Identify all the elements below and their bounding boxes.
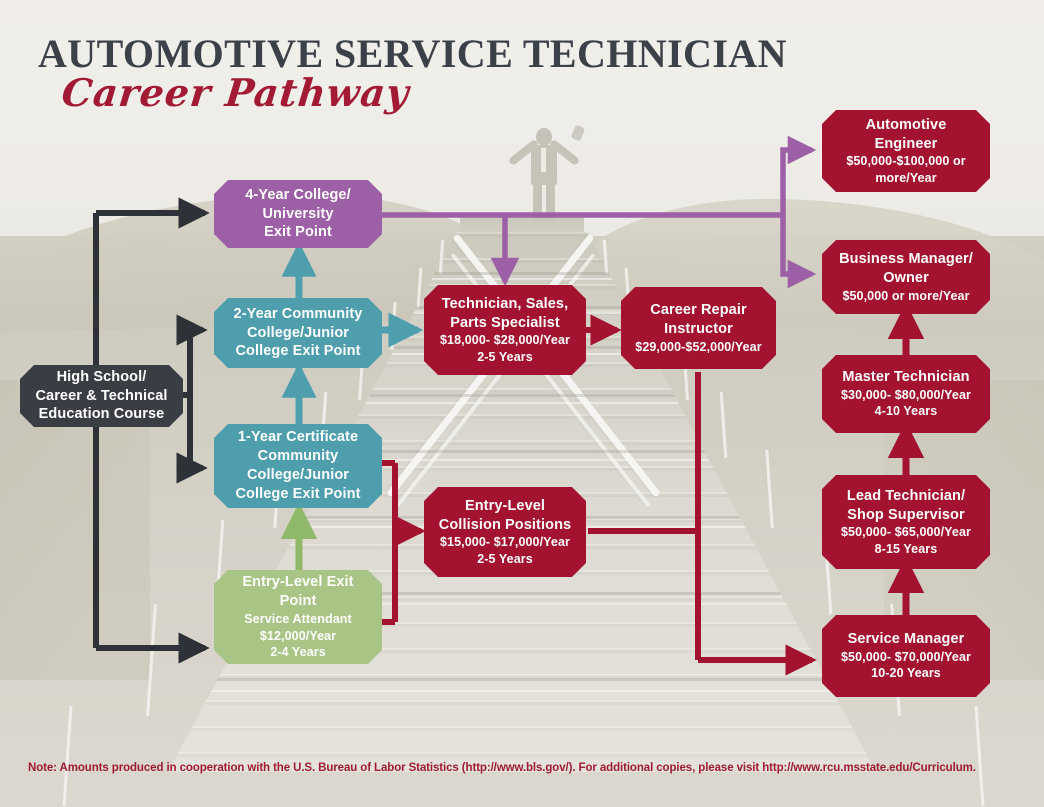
- node-entry-exit-line1: Entry-Level Exit: [242, 573, 353, 592]
- node-one-year-line2: Community: [258, 447, 339, 466]
- node-two-year-college[interactable]: 2-Year Community College/Junior College …: [214, 298, 382, 368]
- node-collision-line1: Entry-Level: [465, 497, 545, 516]
- node-entry-exit-salary: $12,000/Year: [260, 628, 336, 645]
- node-entry-level-collision[interactable]: Entry-Level Collision Positions $15,000-…: [424, 487, 586, 577]
- wire-high-school-to-colleges: [183, 330, 203, 468]
- node-high-school-line1: High School/: [57, 368, 147, 387]
- node-career-repair-instructor[interactable]: Career Repair Instructor $29,000-$52,000…: [621, 287, 776, 369]
- node-one-year-line1: 1-Year Certificate: [238, 428, 358, 447]
- node-technician-salary: $18,000- $28,000/Year: [440, 332, 570, 349]
- node-instructor-line2: Instructor: [664, 320, 733, 339]
- career-pathway-poster: AUTOMOTIVE SERVICE TECHNICIAN Career Pat…: [0, 0, 1044, 807]
- node-master-technician[interactable]: Master Technician $30,000- $80,000/Year …: [822, 355, 990, 433]
- node-instructor-line1: Career Repair: [650, 301, 746, 320]
- node-business-manager-line2: Owner: [883, 269, 929, 288]
- node-four-year-line1: 4-Year College/: [245, 186, 350, 205]
- node-engineer-salary-line2: more/Year: [875, 170, 936, 187]
- node-four-year-line2: University: [262, 205, 333, 224]
- node-one-year-certificate[interactable]: 1-Year Certificate Community College/Jun…: [214, 424, 382, 508]
- node-business-manager-line1: Business Manager/: [839, 250, 973, 269]
- node-one-year-line4: College Exit Point: [235, 485, 360, 504]
- node-service-manager-salary: $50,000- $70,000/Year: [841, 649, 971, 666]
- node-lead-technician-line2: Shop Supervisor: [847, 506, 965, 525]
- node-technician-line1: Technician, Sales,: [442, 295, 568, 314]
- node-high-school-line3: Education Course: [39, 405, 165, 424]
- node-high-school[interactable]: High School/ Career & Technical Educatio…: [20, 365, 183, 427]
- node-two-year-line2: College/Junior: [247, 324, 349, 343]
- node-service-manager[interactable]: Service Manager $50,000- $70,000/Year 10…: [822, 615, 990, 697]
- node-technician-line2: Parts Specialist: [450, 314, 560, 333]
- node-collision-line2: Collision Positions: [439, 516, 571, 535]
- node-two-year-line3: College Exit Point: [235, 342, 360, 361]
- node-entry-exit-role: Service Attendant: [244, 611, 352, 628]
- node-service-manager-title: Service Manager: [848, 630, 965, 649]
- node-master-technician-title: Master Technician: [842, 368, 969, 387]
- node-engineer-line1: Automotive: [866, 116, 947, 135]
- wire-four-year-bus: [380, 150, 812, 282]
- wire-instructor-to-service-manager: [588, 372, 812, 660]
- node-collision-years: 2-5 Years: [477, 551, 533, 568]
- node-business-manager-salary: $50,000 or more/Year: [842, 288, 969, 305]
- node-collision-salary: $15,000- $17,000/Year: [440, 534, 570, 551]
- node-one-year-line3: College/Junior: [247, 466, 349, 485]
- node-technician-sales-parts[interactable]: Technician, Sales, Parts Specialist $18,…: [424, 285, 586, 375]
- node-lead-technician-shop-supervisor[interactable]: Lead Technician/ Shop Supervisor $50,000…: [822, 475, 990, 569]
- node-engineer-salary-line1: $50,000-$100,000 or: [846, 153, 965, 170]
- node-high-school-line2: Career & Technical: [35, 387, 167, 406]
- footer-note: Note: Amounts produced in cooperation wi…: [28, 762, 976, 774]
- node-lead-technician-line1: Lead Technician/: [847, 487, 965, 506]
- node-service-manager-years: 10-20 Years: [871, 665, 941, 682]
- node-two-year-line1: 2-Year Community: [234, 305, 363, 324]
- node-four-year-line3: Exit Point: [264, 223, 332, 242]
- node-engineer-line2: Engineer: [875, 135, 938, 154]
- node-entry-exit-years: 2-4 Years: [270, 644, 326, 661]
- node-master-technician-years: 4-10 Years: [875, 403, 938, 420]
- node-four-year-college[interactable]: 4-Year College/ University Exit Point: [214, 180, 382, 248]
- node-master-technician-salary: $30,000- $80,000/Year: [841, 387, 971, 404]
- node-entry-exit-line2: Point: [280, 592, 317, 611]
- node-lead-technician-years: 8-15 Years: [875, 541, 938, 558]
- node-technician-years: 2-5 Years: [477, 349, 533, 366]
- node-instructor-salary: $29,000-$52,000/Year: [635, 339, 761, 356]
- node-automotive-engineer[interactable]: Automotive Engineer $50,000-$100,000 or …: [822, 110, 990, 192]
- node-business-manager-owner[interactable]: Business Manager/ Owner $50,000 or more/…: [822, 240, 990, 314]
- node-lead-technician-salary: $50,000- $65,000/Year: [841, 524, 971, 541]
- node-entry-level-exit[interactable]: Entry-Level Exit Point Service Attendant…: [214, 570, 382, 664]
